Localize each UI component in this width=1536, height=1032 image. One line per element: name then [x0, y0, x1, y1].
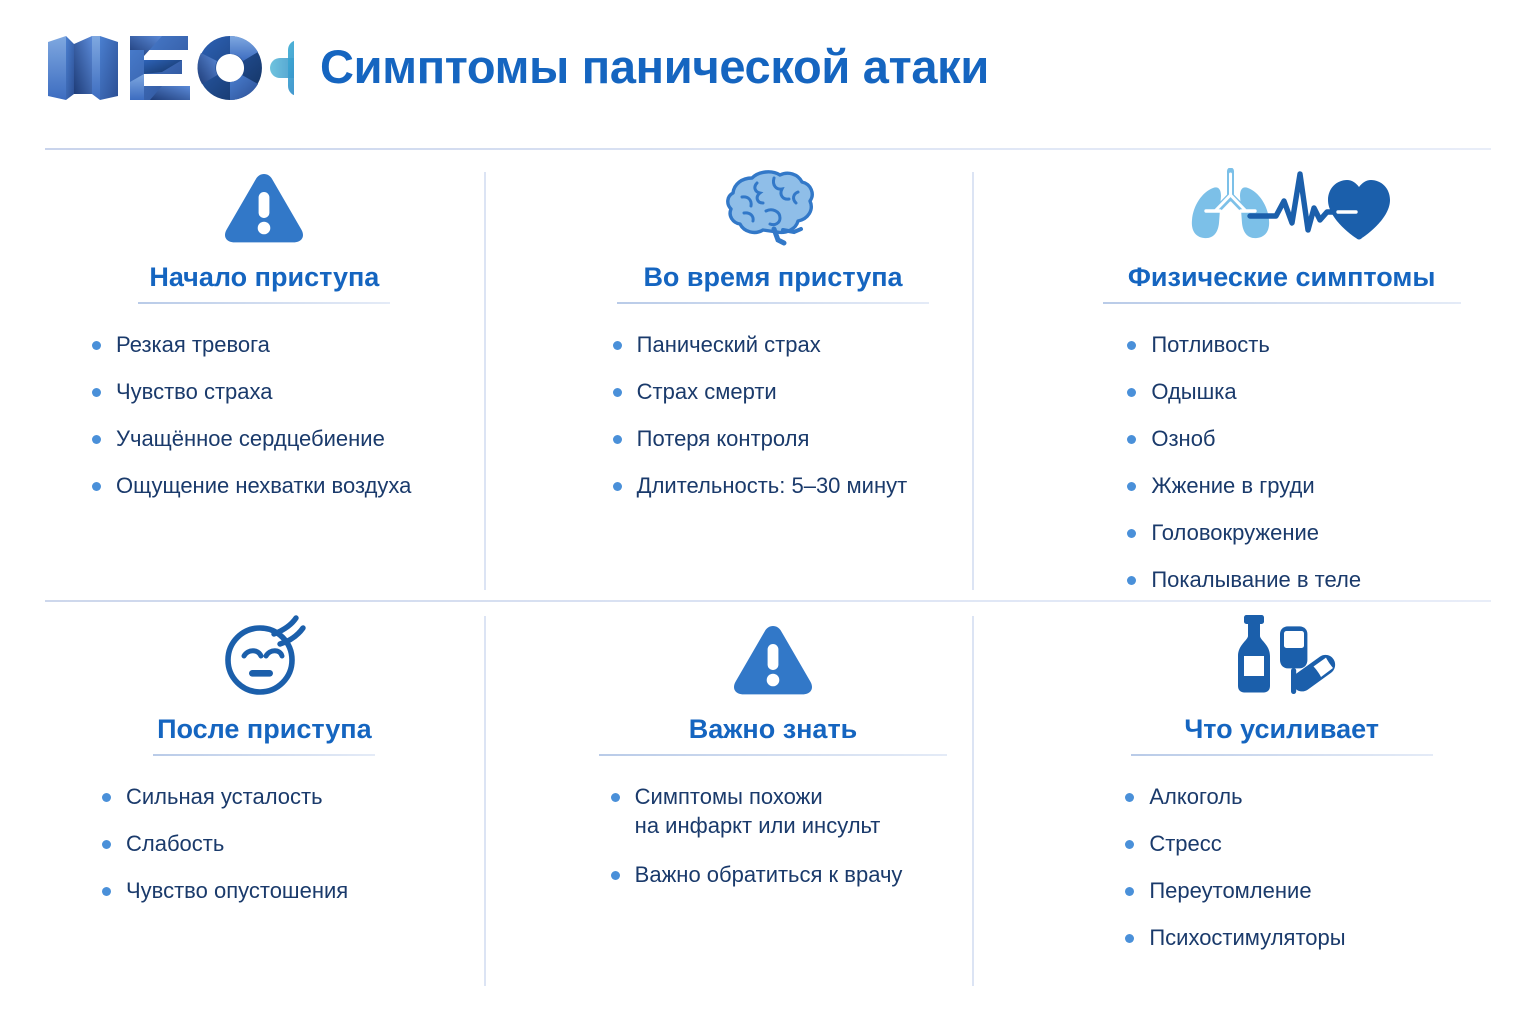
heading-underline — [599, 754, 947, 756]
symptom-list: Симптомы похожи на инфаркт или инсульт В… — [565, 782, 982, 889]
list-item: Панический страх — [611, 330, 982, 359]
card-physical-symptoms: Физические симптомы Потливость Одышка Оз… — [1027, 160, 1536, 600]
list-item: Алкоголь — [1123, 782, 1490, 811]
list-item: Симптомы похожи на инфаркт или инсульт — [609, 782, 982, 840]
list-item: Переутомление — [1123, 876, 1490, 905]
card-heading: Физические симптомы — [1073, 262, 1490, 293]
list-item: Ощущение нехватки воздуха — [90, 471, 473, 500]
list-item: Учащённое сердцебиение — [90, 424, 473, 453]
list-item: Резкая тревога — [90, 330, 473, 359]
card-important-to-know: Важно знать Симптомы похожи на инфаркт и… — [519, 612, 1028, 1032]
card-heading: Важно знать — [565, 714, 982, 745]
list-item: Озноб — [1125, 424, 1490, 453]
list-item: Страх смерти — [611, 377, 982, 406]
card-attack-onset: Начало приступа Резкая тревога Чувство с… — [0, 160, 519, 600]
list-item: Потливость — [1125, 330, 1490, 359]
list-item: Чувство опустошения — [100, 876, 473, 905]
list-item: Сильная усталость — [100, 782, 473, 811]
list-item: Покалывание в теле — [1125, 565, 1490, 594]
list-item: Психостимуляторы — [1123, 923, 1490, 952]
header-divider — [45, 148, 1491, 150]
list-item: Чувство страха — [90, 377, 473, 406]
card-what-aggravates: Что усиливает Алкоголь Стресс Переутомле… — [1027, 612, 1536, 1032]
card-heading: Во время приступа — [565, 262, 982, 293]
list-item-line-2: на инфаркт или инсульт — [635, 811, 982, 840]
bottle-glass-pill-icon — [1073, 612, 1490, 698]
neo-plus-logo — [44, 32, 294, 104]
cards-row-top: Начало приступа Резкая тревога Чувство с… — [0, 160, 1536, 600]
list-item-line-1: Симптомы похожи — [635, 784, 823, 809]
row-divider — [45, 600, 1491, 602]
card-after-attack: После приступа Сильная усталость Слабост… — [0, 612, 519, 1032]
heading-underline — [1103, 302, 1461, 304]
card-during-attack: Во время приступа Панический страх Страх… — [519, 160, 1028, 600]
heading-underline — [617, 302, 929, 304]
symptom-list: Резкая тревога Чувство страха Учащённое … — [56, 330, 473, 500]
page-title: Симптомы панической атаки — [320, 43, 989, 94]
list-item: Стресс — [1123, 829, 1490, 858]
cards-grid: Начало приступа Резкая тревога Чувство с… — [0, 160, 1536, 1024]
card-heading: После приступа — [56, 714, 473, 745]
list-item: Потеря контроля — [611, 424, 982, 453]
card-heading: Что усиливает — [1073, 714, 1490, 745]
lungs-heartbeat-heart-icon — [1073, 160, 1490, 246]
brain-icon — [565, 160, 982, 246]
list-item: Важно обратиться к врачу — [609, 860, 982, 889]
list-item: Головокружение — [1125, 518, 1490, 547]
symptom-list: Алкоголь Стресс Переутомление Психостиму… — [1073, 782, 1490, 952]
card-heading: Начало приступа — [56, 262, 473, 293]
tired-face-icon — [56, 612, 473, 698]
list-item: Одышка — [1125, 377, 1490, 406]
heading-underline — [153, 754, 375, 756]
symptom-list: Сильная усталость Слабость Чувство опуст… — [56, 782, 473, 905]
list-item: Слабость — [100, 829, 473, 858]
list-item: Жжение в груди — [1125, 471, 1490, 500]
symptom-list: Потливость Одышка Озноб Жжение в груди Г… — [1073, 330, 1490, 594]
list-item: Длительность: 5–30 минут — [611, 471, 982, 500]
warning-triangle-icon — [56, 160, 473, 246]
warning-triangle-icon — [565, 612, 982, 698]
heading-underline — [138, 302, 390, 304]
symptom-list: Панический страх Страх смерти Потеря кон… — [565, 330, 982, 500]
heading-underline — [1131, 754, 1433, 756]
cards-row-bottom: После приступа Сильная усталость Слабост… — [0, 612, 1536, 1032]
page-header: Симптомы панической атаки — [0, 0, 1536, 92]
